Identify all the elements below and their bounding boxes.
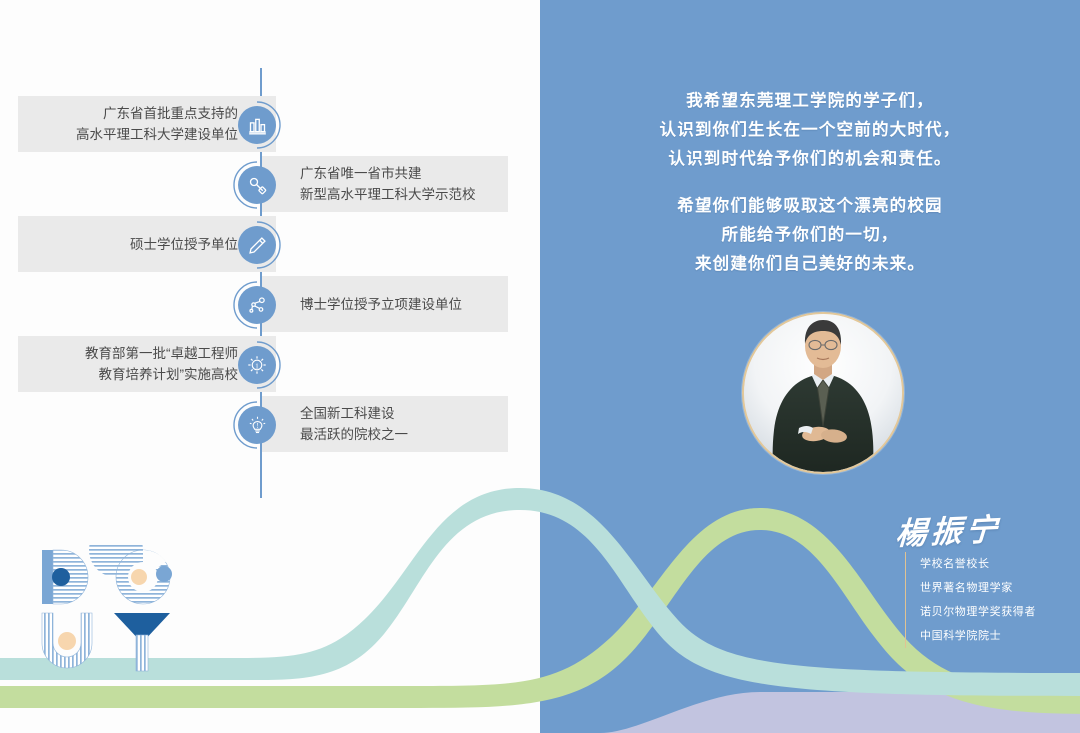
timeline-item-text: 硕士学位授予单位 (130, 234, 238, 255)
timeline-row: 广东省唯一省市共建 新型高水平理工科大学示范校 (262, 156, 470, 212)
bar-chart-building-icon[interactable] (238, 106, 276, 144)
signature: 楊振宁 (894, 502, 1057, 554)
credential-item: 世界著名物理学家 (920, 576, 1036, 600)
timeline-item-text: 广东省唯一省市共建 新型高水平理工科大学示范校 (300, 163, 476, 205)
timeline-label-box[interactable]: 广东省唯一省市共建 新型高水平理工科大学示范校 (262, 156, 508, 212)
poster-page: 广东省首批重点支持的 高水平理工科大学建设单位 广东省唯一省市共建 新型高水平理… (0, 0, 1080, 733)
timeline-item-text: 教育部第一批“卓越工程师 教育培养计划”实施高校 (85, 343, 238, 385)
svg-text:1: 1 (255, 361, 259, 370)
quote-line-4: 希望你们能够吸取这个漂亮的校园 (600, 191, 1020, 220)
credential-item: 学校名誉校长 (920, 552, 1036, 576)
lightbulb-icon[interactable]: ! (238, 406, 276, 444)
timeline-label-box[interactable]: 博士学位授予立项建设单位 (262, 276, 508, 332)
quote-line-2: 认识到你们生长在一个空前的大时代， (600, 115, 1020, 144)
quote-block: 我希望东莞理工学院的学子们， 认识到你们生长在一个空前的大时代， 认识到时代给予… (600, 86, 1020, 278)
quote-spacer (600, 173, 1020, 191)
key-icon[interactable] (238, 166, 276, 204)
timeline-item-text: 全国新工科建设 最活跃的院校之一 (300, 403, 408, 445)
quote-line-3: 认识到时代给予你们的机会和责任。 (600, 144, 1020, 173)
logo-letter-u (42, 613, 92, 668)
timeline-row: 全国新工科建设 最活跃的院校之一 (262, 396, 470, 452)
timeline-label-box[interactable]: 全国新工科建设 最活跃的院校之一 (262, 396, 508, 452)
network-nodes-icon[interactable] (238, 286, 276, 324)
logo-letter-d (42, 550, 88, 604)
credentials-list: 学校名誉校长 世界著名物理学家 诺贝尔物理学奖获得者 中国科学院院士 (905, 552, 1036, 648)
credential-item: 诺贝尔物理学奖获得者 (920, 600, 1036, 624)
portrait-photo (742, 312, 904, 474)
timeline-item-text: 博士学位授予立项建设单位 (300, 294, 462, 315)
logo-letter-y (114, 613, 170, 671)
logo-letter-g (89, 545, 172, 604)
quote-line-1: 我希望东莞理工学院的学子们， (600, 86, 1020, 115)
quote-line-6: 来创建你们自己美好的未来。 (600, 249, 1020, 278)
dgut-logo (40, 545, 180, 675)
timeline-item-text: 广东省首批重点支持的 高水平理工科大学建设单位 (76, 103, 238, 145)
pencil-icon[interactable] (238, 226, 276, 264)
timeline-row: 博士学位授予立项建设单位 (262, 276, 470, 332)
credential-item: 中国科学院院士 (920, 624, 1036, 648)
quote-line-5: 所能给予你们的一切， (600, 220, 1020, 249)
svg-text:!: ! (256, 422, 258, 430)
gear-one-icon[interactable]: 1 (238, 346, 276, 384)
